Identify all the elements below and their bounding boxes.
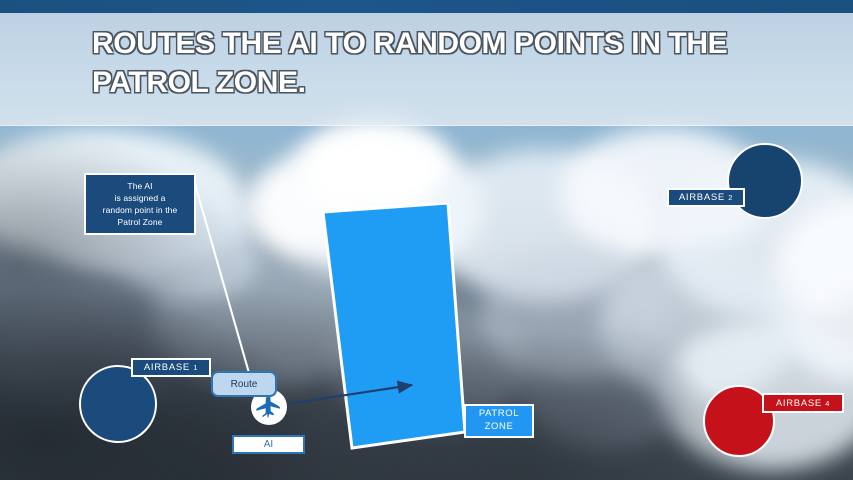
airbase-2-label-text: AIRBASE (679, 192, 728, 203)
airbase-1-label-text: AIRBASE (144, 362, 193, 373)
airbase-4-number: 4 (825, 399, 830, 408)
top-accent-strip (0, 0, 853, 13)
airbase-1-label[interactable]: AIRBASE 1 (131, 358, 211, 377)
route-label[interactable]: Route (211, 371, 277, 397)
page-title: ROUTES THE AI TO RANDOM POINTS IN THE PA… (92, 24, 792, 102)
callout-box: The AI is assigned a random point in the… (84, 173, 196, 235)
patrol-zone-label[interactable]: PATROL ZONE (464, 404, 534, 438)
airbase-2-marker[interactable] (727, 143, 803, 219)
airbase-2-label[interactable]: AIRBASE 2 (667, 188, 745, 207)
airbase-1-number: 1 (193, 363, 198, 372)
slide-canvas: ROUTES THE AI TO RANDOM POINTS IN THE PA… (0, 0, 853, 480)
airbase-4-label-text: AIRBASE (776, 398, 825, 409)
ai-label[interactable]: AI (232, 435, 305, 454)
airbase-4-label[interactable]: AIRBASE 4 (762, 393, 844, 413)
airbase-2-number: 2 (728, 193, 733, 202)
